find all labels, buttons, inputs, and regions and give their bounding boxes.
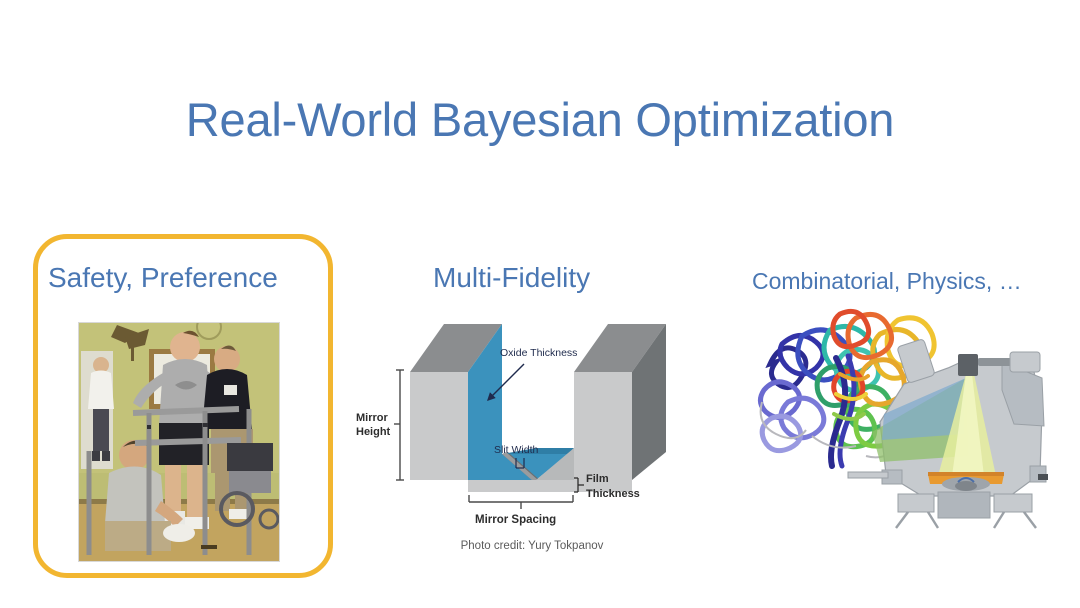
column-heading-multi-fidelity: Multi-Fidelity — [433, 262, 590, 294]
rehab-gait-training-photo — [78, 322, 280, 562]
column-heading-safety-preference: Safety, Preference — [48, 262, 278, 294]
label-oxide-thickness: Oxide Thickness — [500, 347, 577, 359]
label-film-thickness-line2: Thickness — [586, 488, 640, 500]
column-heading-combinatorial-physics: Combinatorial, Physics, … — [752, 268, 1022, 295]
label-slit-width: Slit Width — [494, 444, 539, 456]
photo-credit: Photo credit: Yury Tokpanov — [352, 540, 712, 552]
label-mirror-spacing: Mirror Spacing — [475, 514, 556, 526]
label-film-thickness-line1: Film — [586, 473, 609, 485]
label-mirror-height-line2: Height — [356, 426, 391, 438]
label-mirror-height-line1: Mirror — [356, 412, 389, 424]
page-title: Real-World Bayesian Optimization — [0, 92, 1080, 147]
protein-ribbon-and-instrument-diagram — [752, 306, 1052, 534]
mirror-slit-3d-diagram: Oxide Thickness Mirror Height Slit Width… — [352, 312, 712, 534]
